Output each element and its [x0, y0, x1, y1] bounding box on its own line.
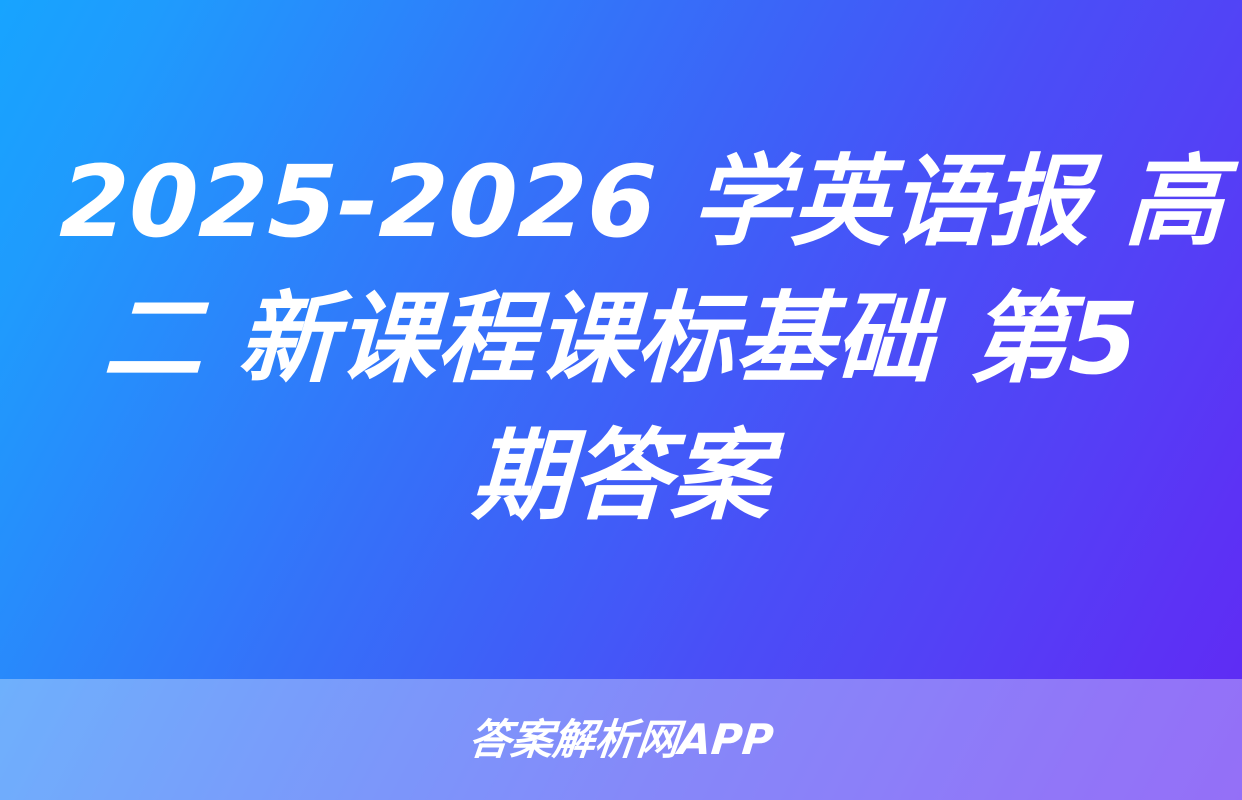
app-watermark-label: 答案解析网APP [467, 719, 775, 761]
headline-line-2: 二 新课程课标基础 第5 [58, 271, 1185, 408]
headline-block: 2025-2026 学英语报 高 二 新课程课标基础 第5 期答案 [0, 0, 1242, 679]
headline-line-1: 2025-2026 学英语报 高 [58, 134, 1185, 271]
footer-watermark-band: 答案解析网APP [0, 679, 1242, 800]
headline-line-3: 期答案 [58, 408, 1185, 545]
answer-card-poster: 2025-2026 学英语报 高 二 新课程课标基础 第5 期答案 答案解析网A… [0, 0, 1242, 800]
